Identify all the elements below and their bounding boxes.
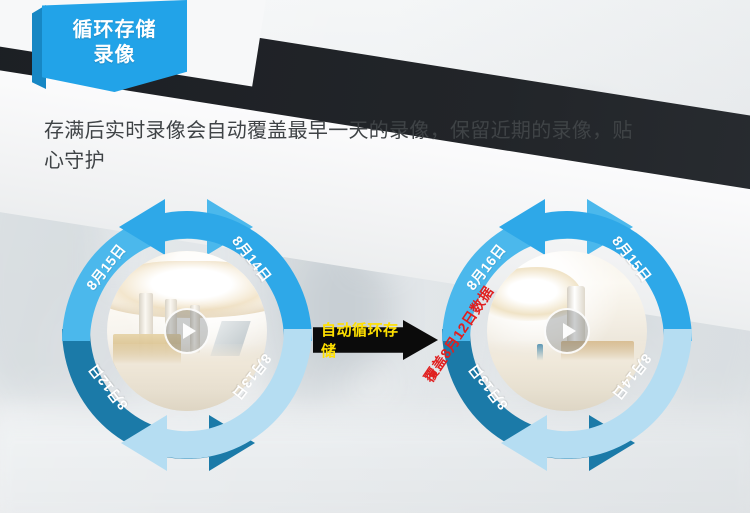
badge-text: 循环存储 录像	[42, 0, 187, 92]
transition-arrow-label: 自动循环存储	[321, 320, 403, 360]
section-badge: 循环存储 录像	[42, 0, 187, 92]
cycle-diagram-before: 8月15日 8月14日 8月13日 8月12日	[59, 199, 315, 471]
play-icon[interactable]	[164, 308, 210, 354]
page-root: 循环存储 录像 存满后实时录像会自动覆盖最早一天的录像，保留近期的录像，贴心守护	[0, 0, 750, 513]
badge-line-1: 循环存储	[73, 18, 157, 42]
transition-arrow: 自动循环存储	[313, 320, 438, 360]
play-icon[interactable]	[544, 308, 590, 354]
badge-line-2: 录像	[94, 43, 136, 67]
cycle-diagram-after: 8月16日 8月15日 8月14日 8月13日 覆盖8月12日数据	[439, 199, 695, 471]
section-description: 存满后实时录像会自动覆盖最早一天的录像，保留近期的录像，贴心守护	[44, 116, 644, 177]
